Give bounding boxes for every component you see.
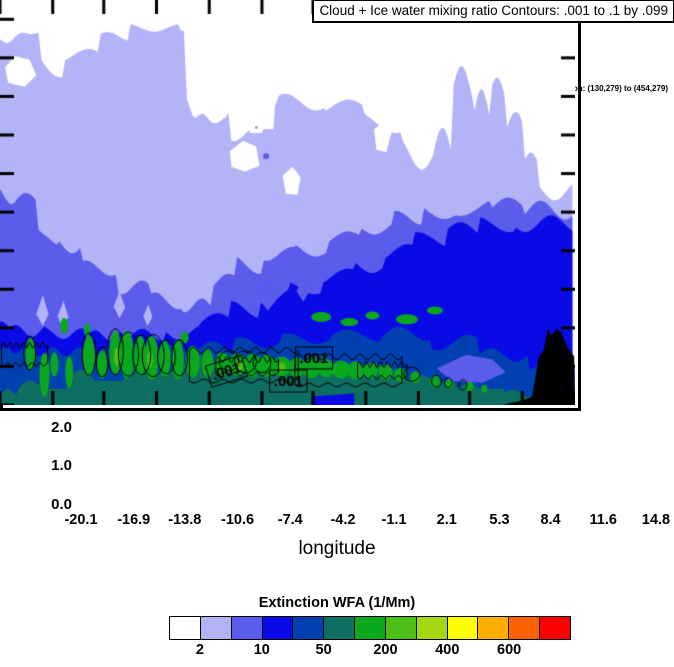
colorbar-tick-label: 50 bbox=[299, 642, 349, 658]
colorbar-cell bbox=[386, 617, 417, 639]
colorbar bbox=[169, 616, 571, 640]
colorbar-cell bbox=[201, 617, 232, 639]
colorbar-cell bbox=[540, 617, 570, 639]
colorbar-cell bbox=[293, 617, 324, 639]
x-tick-label: 2.1 bbox=[417, 512, 477, 528]
colorbar-tick-label: 400 bbox=[422, 642, 472, 658]
x-tick-label: -20.1 bbox=[51, 512, 111, 528]
colorbar-cell bbox=[417, 617, 448, 639]
x-tick-label: 11.6 bbox=[573, 512, 633, 528]
colorbar-cell bbox=[478, 617, 509, 639]
cross-section-plot: Cloud + Ice water mixing ratio Contours:… bbox=[0, 0, 581, 411]
colorbar-cell bbox=[324, 617, 355, 639]
y-tick-label: 1.0 bbox=[12, 457, 72, 474]
colorbar-tick-label: 600 bbox=[484, 642, 534, 658]
x-axis-label: longitude bbox=[0, 538, 674, 560]
x-tick-label: 8.4 bbox=[521, 512, 581, 528]
extinction-shading-canvas bbox=[0, 0, 575, 405]
y-tick-label: 0.0 bbox=[12, 496, 72, 513]
colorbar-cell bbox=[170, 617, 201, 639]
colorbar-tick-label: 2 bbox=[175, 642, 225, 658]
x-tick-label: -10.6 bbox=[208, 512, 268, 528]
x-axis-ticks: -20.1-16.9-13.8-10.6-7.4-4.2-1.12.15.38.… bbox=[78, 512, 659, 534]
colorbar-tick-label: 10 bbox=[237, 642, 287, 658]
x-tick-label: 14.8 bbox=[626, 512, 674, 528]
y-tick-label: 2.0 bbox=[12, 419, 72, 436]
x-tick-label: -1.1 bbox=[364, 512, 424, 528]
colorbar-cell bbox=[448, 617, 479, 639]
colorbar-cell bbox=[355, 617, 386, 639]
colorbar-cell bbox=[263, 617, 294, 639]
x-tick-label: -13.8 bbox=[155, 512, 215, 528]
colorbar-title: Extinction WFA (1/Mm) bbox=[0, 595, 674, 611]
contour-title-box: Cloud + Ice water mixing ratio Contours:… bbox=[312, 0, 581, 23]
colorbar-tick-label: 200 bbox=[360, 642, 410, 658]
colorbar-cell bbox=[509, 617, 540, 639]
x-tick-label: -7.4 bbox=[260, 512, 320, 528]
colorbar-cell bbox=[232, 617, 263, 639]
colorbar-ticks: 21050200400600 bbox=[169, 642, 571, 664]
